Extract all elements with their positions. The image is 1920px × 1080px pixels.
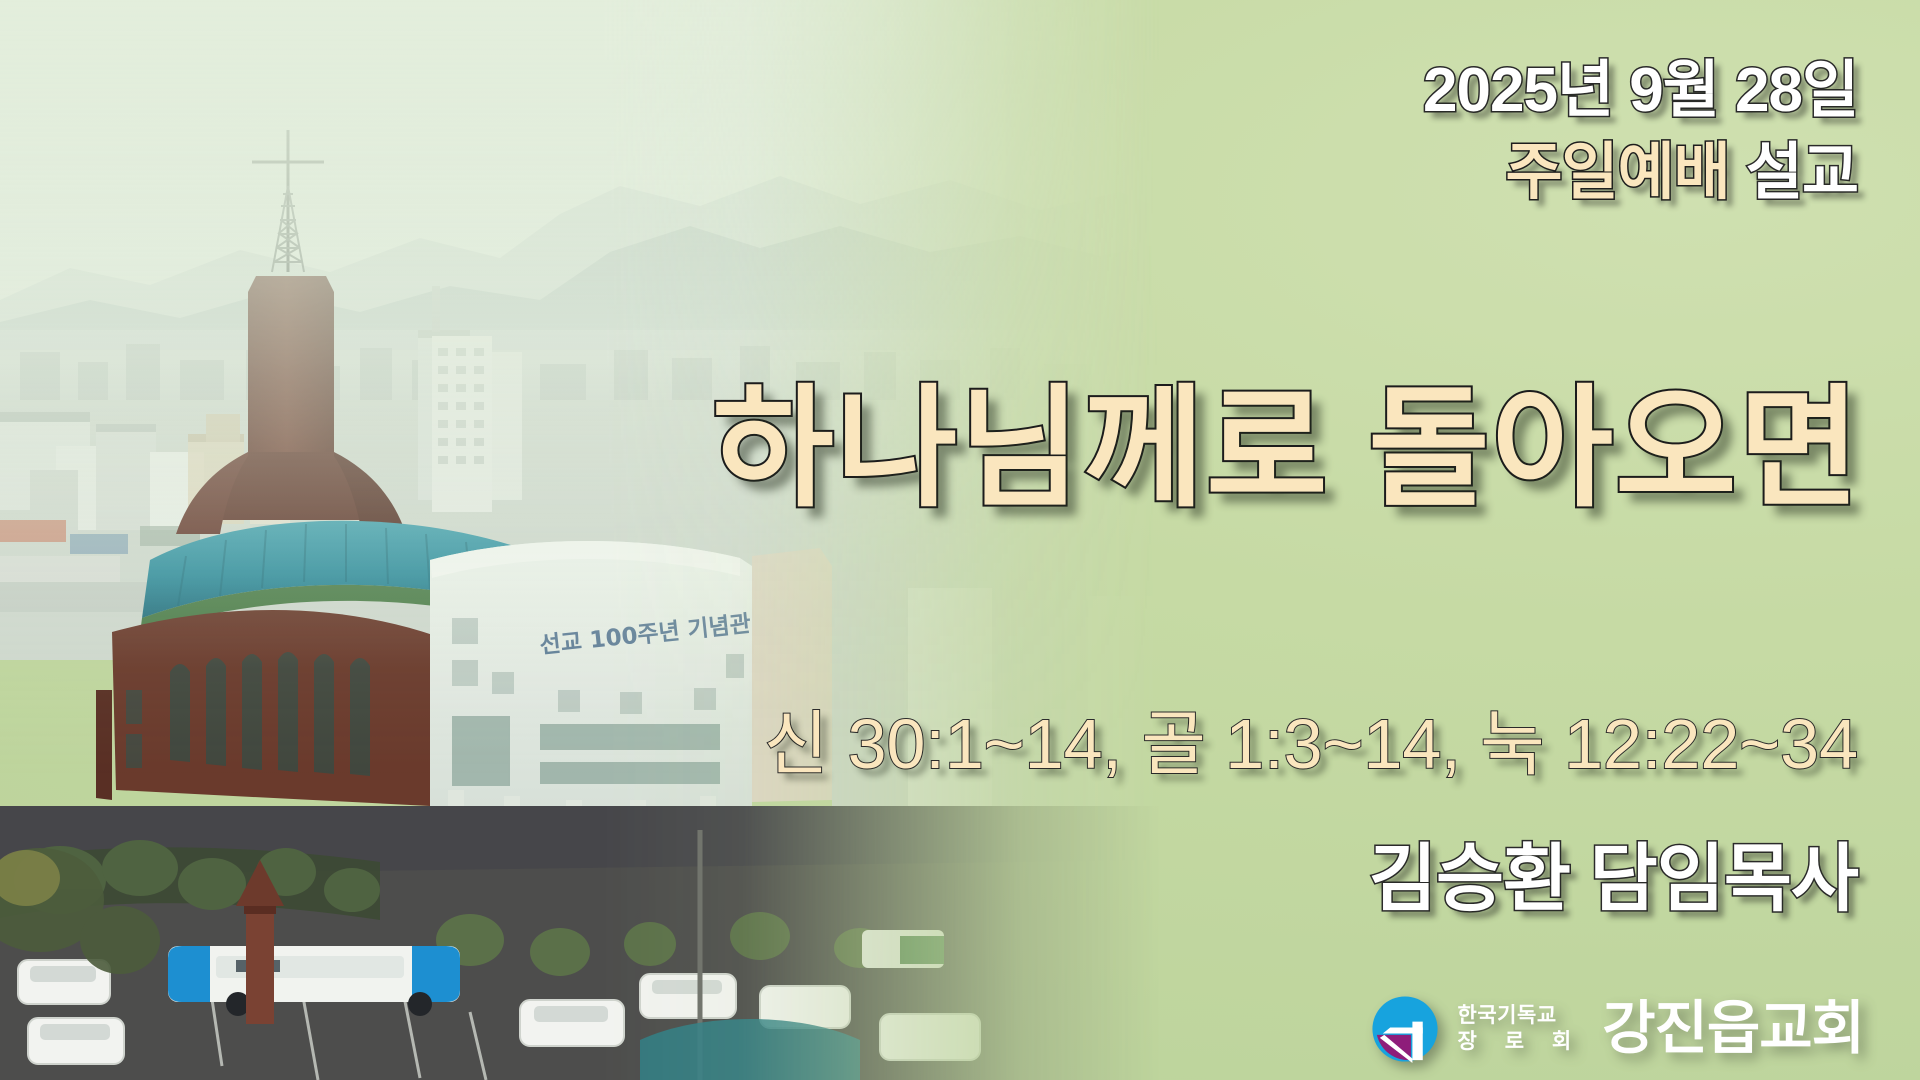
denomination-line-1: 한국기독교 bbox=[1458, 1003, 1583, 1029]
church-name: 강진읍교회 bbox=[1602, 1000, 1864, 1058]
denomination-name: 한국기독교 장 로 회 bbox=[1458, 1003, 1583, 1056]
denomination-line-2: 장 로 회 bbox=[1458, 1029, 1583, 1055]
sermon-title: 하나님께로 돌아오면 bbox=[0, 376, 1862, 521]
service-date: 2025년 9월 28일 bbox=[1423, 58, 1858, 123]
service-type-worship: 주일예배 bbox=[1506, 138, 1730, 207]
sermon-title-card: 선교 100주년 기념관 bbox=[0, 0, 1920, 1080]
church-logo: 한국기독교 장 로 회 강진읍교회 bbox=[1368, 992, 1864, 1066]
service-type-sermon: 설교 bbox=[1746, 138, 1858, 207]
church-aerial-photo: 선교 100주년 기념관 bbox=[0, 0, 1160, 1080]
preacher-name: 김승환 담임목사 bbox=[1369, 838, 1858, 919]
service-type: 주일예배 설교 bbox=[1506, 140, 1859, 205]
church-logo-mark-icon bbox=[1368, 992, 1442, 1066]
scripture-references: 신 30:1~14, 골 1:3~14, 눅 12:22~34 bbox=[764, 706, 1858, 783]
